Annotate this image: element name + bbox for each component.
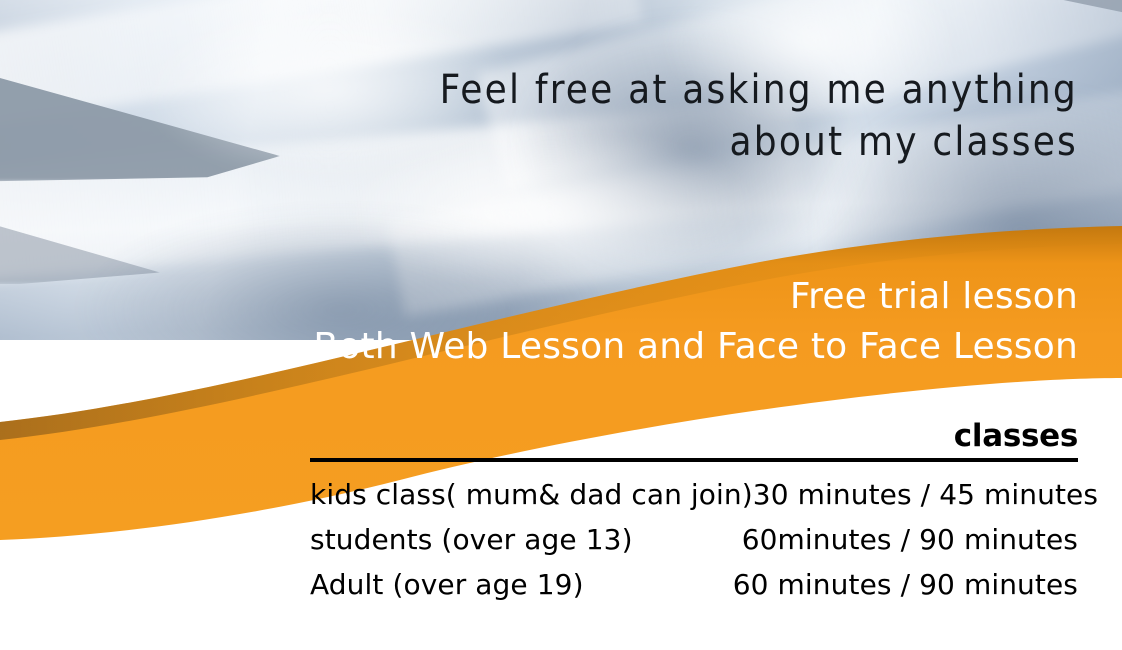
classes-divider-rule — [310, 458, 1078, 462]
class-name: Adult (over age 19) — [310, 562, 584, 607]
class-duration: 30 minutes / 45 minutes — [753, 472, 1098, 517]
promo-line-free-trial: Free trial lesson — [218, 272, 1078, 322]
class-duration: 60 minutes / 90 minutes — [733, 562, 1078, 607]
table-row: kids class( mum& dad can join) 30 minute… — [310, 472, 1078, 517]
promo-band-text: Free trial lesson Both Web Lesson and Fa… — [218, 272, 1078, 372]
table-row: Adult (over age 19) 60 minutes / 90 minu… — [310, 562, 1078, 607]
class-name: students (over age 13) — [310, 517, 633, 562]
headline: Feel free at asking me anything about my… — [318, 64, 1078, 168]
table-row: students (over age 13) 60minutes / 90 mi… — [310, 517, 1078, 562]
flyer-canvas: Feel free at asking me anything about my… — [0, 0, 1122, 650]
class-name: kids class( mum& dad can join) — [310, 472, 753, 517]
headline-line-1: Feel free at asking me anything — [318, 64, 1078, 116]
promo-line-lesson-types: Both Web Lesson and Face to Face Lesson — [218, 322, 1078, 372]
classes-table: classes kids class( mum& dad can join) 3… — [310, 418, 1078, 607]
class-duration: 60minutes / 90 minutes — [742, 517, 1078, 562]
headline-line-2: about my classes — [318, 116, 1078, 168]
classes-title: classes — [310, 418, 1078, 454]
